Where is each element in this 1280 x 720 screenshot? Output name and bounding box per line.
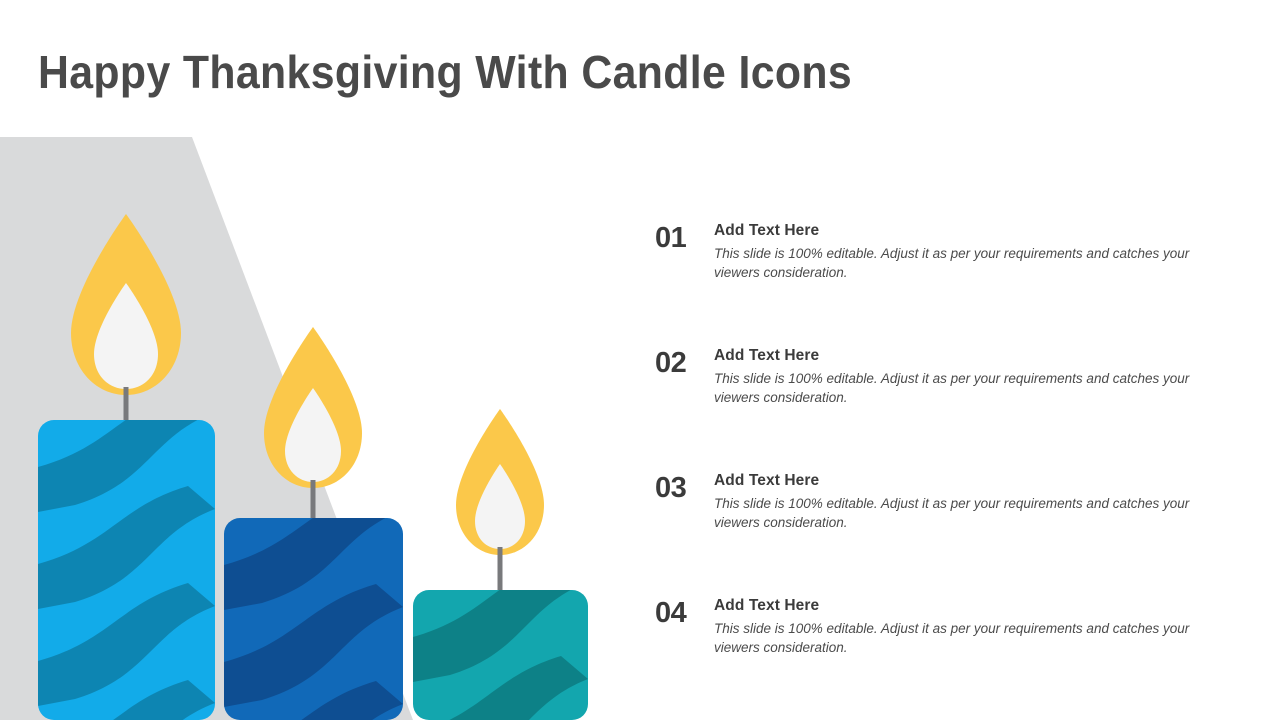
wick-icon xyxy=(124,387,129,423)
item-heading: Add Text Here xyxy=(714,347,1200,365)
item-number: 02 xyxy=(655,347,703,380)
item-description: This slide is 100% editable. Adjust it a… xyxy=(714,369,1200,407)
item-heading: Add Text Here xyxy=(714,597,1200,615)
item-body: Add Text Here This slide is 100% editabl… xyxy=(714,347,1200,407)
page-title: Happy Thanksgiving With Candle Icons xyxy=(38,46,852,99)
candle-3 xyxy=(413,409,588,720)
wick-icon xyxy=(311,480,316,522)
item-number: 03 xyxy=(655,472,703,505)
item-heading: Add Text Here xyxy=(714,222,1200,240)
candles-illustration xyxy=(0,137,620,720)
item-body: Add Text Here This slide is 100% editabl… xyxy=(714,222,1200,282)
list-item[interactable]: 02 Add Text Here This slide is 100% edit… xyxy=(655,347,1200,457)
wick-icon xyxy=(498,547,503,593)
item-body: Add Text Here This slide is 100% editabl… xyxy=(714,472,1200,532)
item-description: This slide is 100% editable. Adjust it a… xyxy=(714,244,1200,282)
list-item[interactable]: 04 Add Text Here This slide is 100% edit… xyxy=(655,597,1200,707)
list-item[interactable]: 03 Add Text Here This slide is 100% edit… xyxy=(655,472,1200,582)
item-heading: Add Text Here xyxy=(714,472,1200,490)
list-item[interactable]: 01 Add Text Here This slide is 100% edit… xyxy=(655,222,1200,332)
item-number: 01 xyxy=(655,222,703,255)
item-body: Add Text Here This slide is 100% editabl… xyxy=(714,597,1200,657)
item-number: 04 xyxy=(655,597,703,630)
item-description: This slide is 100% editable. Adjust it a… xyxy=(714,619,1200,657)
item-description: This slide is 100% editable. Adjust it a… xyxy=(714,494,1200,532)
candles-svg xyxy=(0,137,620,720)
